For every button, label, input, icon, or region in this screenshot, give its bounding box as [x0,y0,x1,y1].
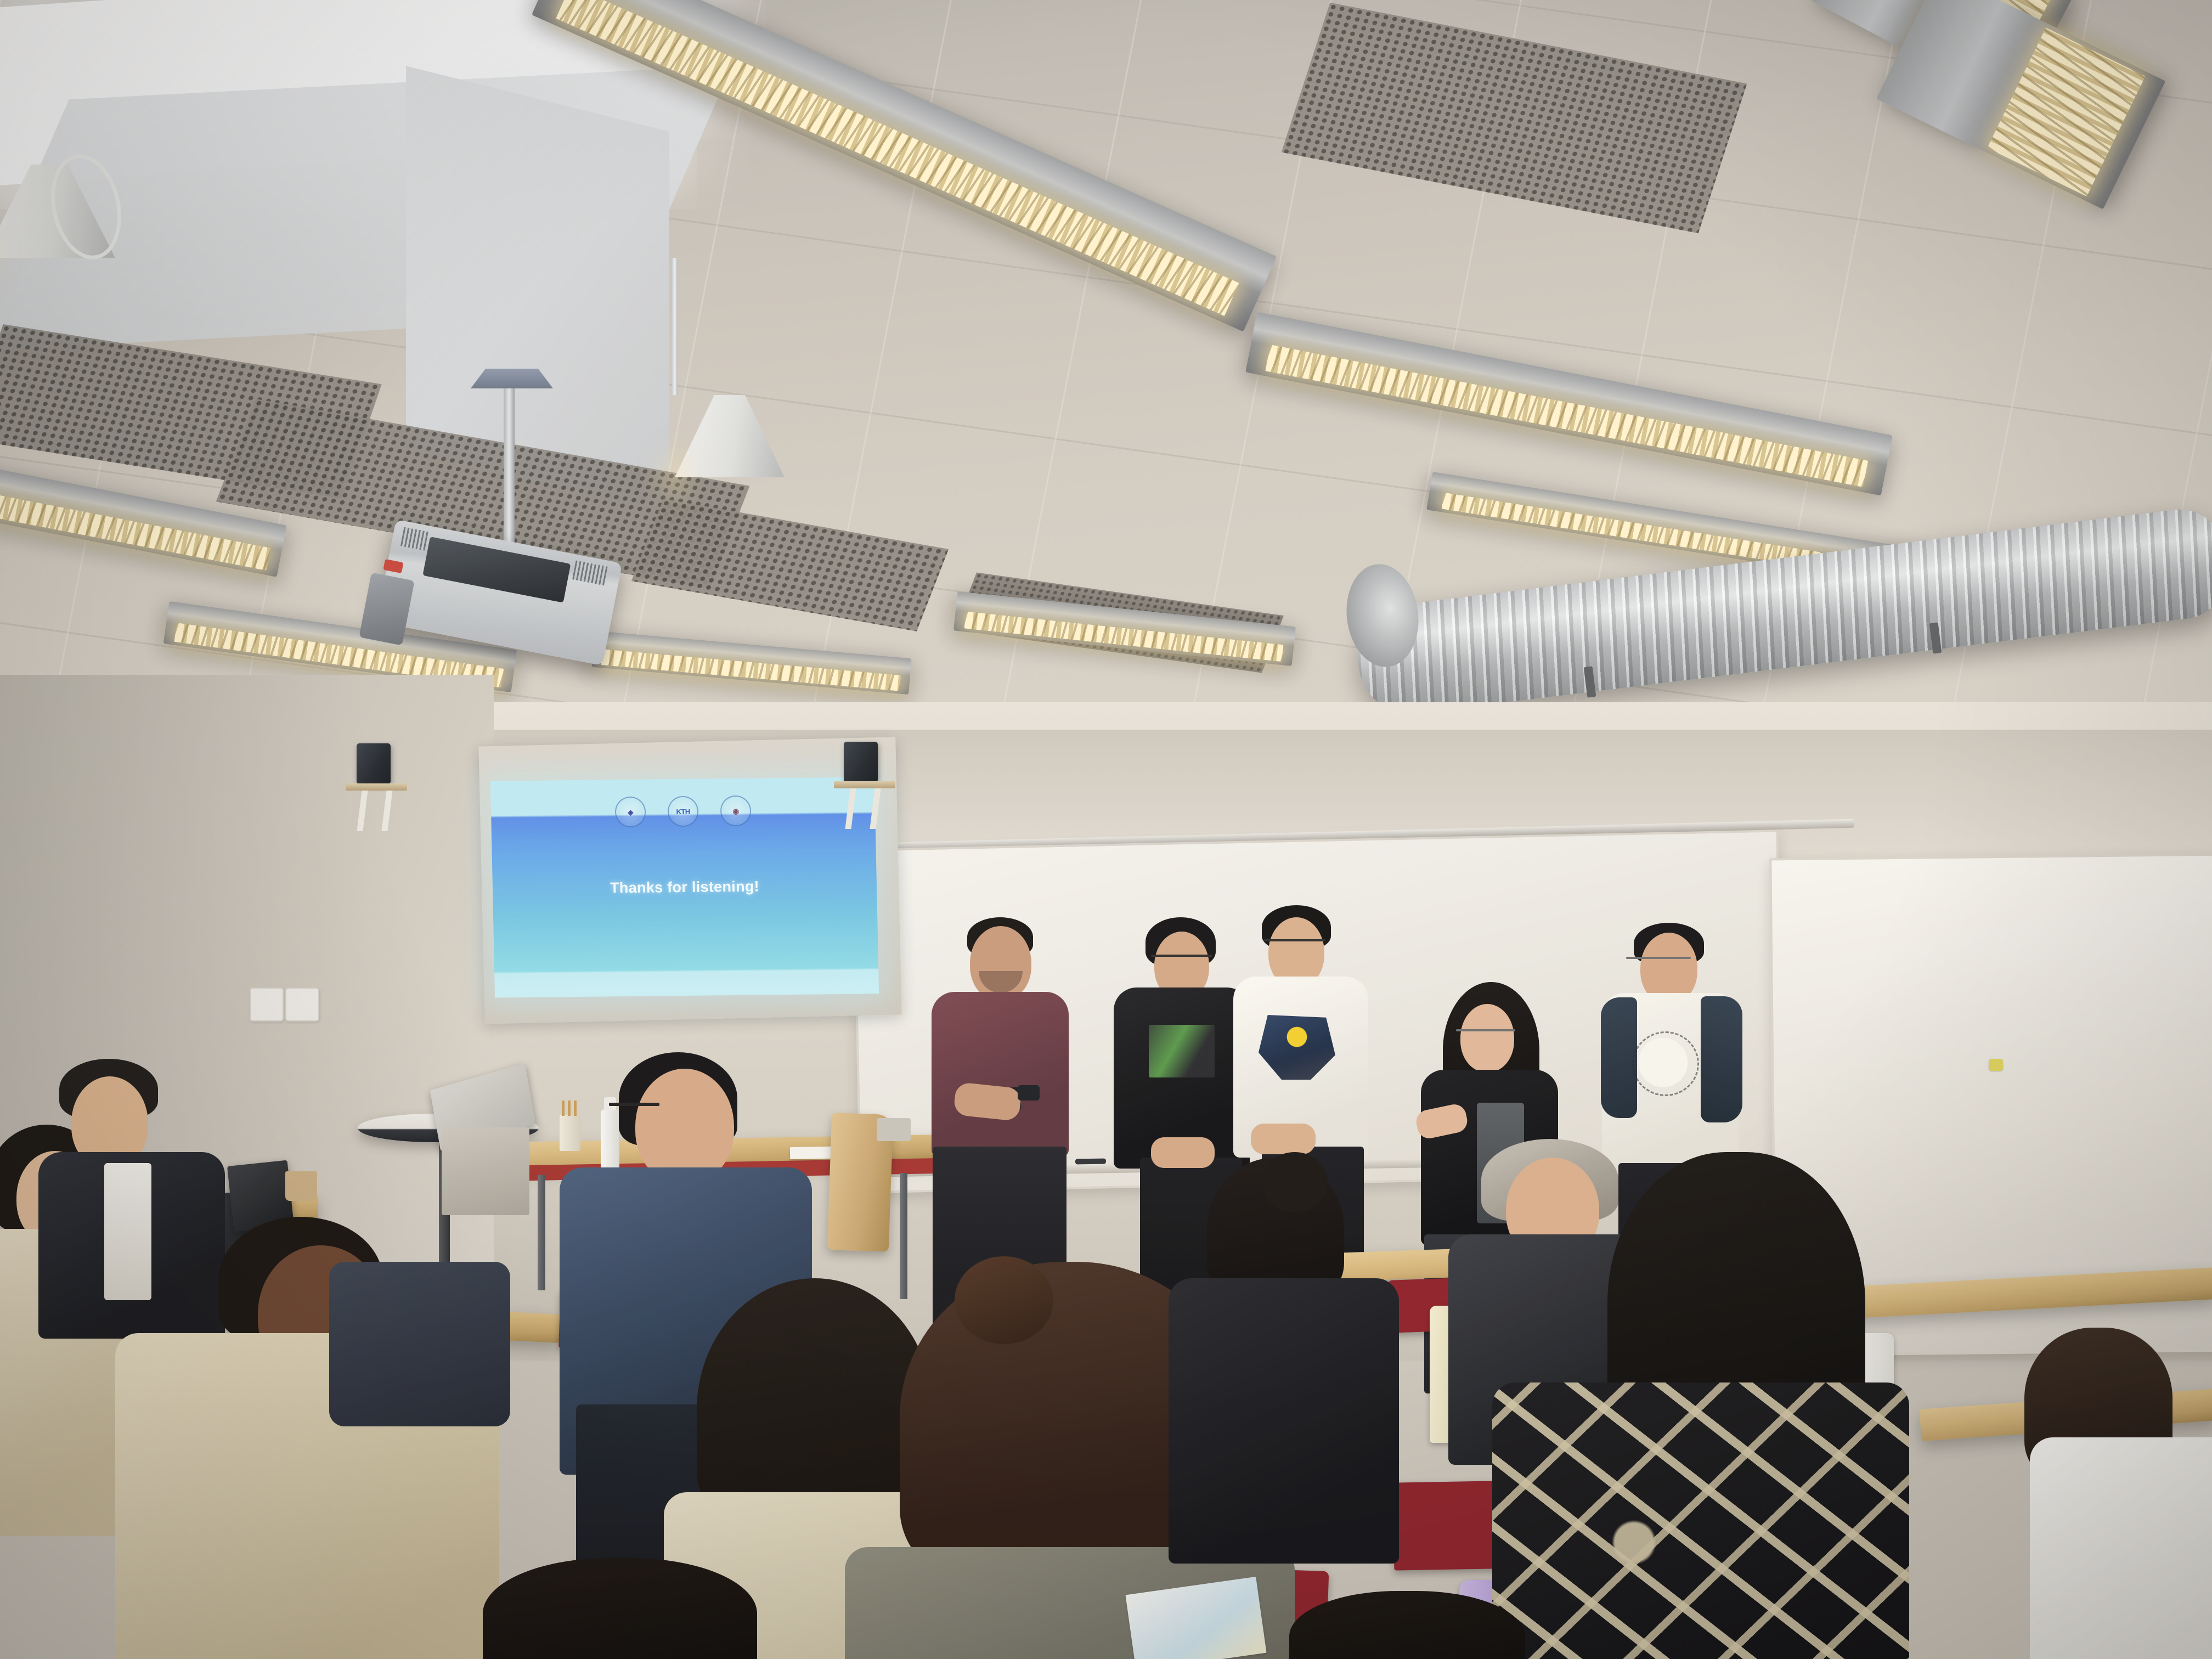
speaker-shelf [346,783,407,791]
storage-box [442,1127,529,1215]
head [1460,1004,1514,1072]
hair-bun [1262,1152,1328,1212]
wall-outlet-box [877,1118,911,1141]
slide-title: Thanks for listening! [493,877,877,898]
lecture-hall-photo: ◈ KTH ◉ Thanks for listening! [0,0,2212,1659]
projector-vent-grille [400,527,429,550]
light-switch[interactable] [285,988,319,1022]
hand-sanitizer-bottle[interactable] [601,1109,619,1175]
glasses-icon [1264,939,1325,941]
logo-glyph: ◉ [733,808,739,815]
desk-leg [538,1175,545,1290]
torso-white-shirt [2030,1437,2212,1659]
wristwatch [1018,1085,1040,1101]
projected-slide: ◈ KTH ◉ Thanks for listening! [490,777,879,997]
paper-cup[interactable] [285,1171,317,1201]
clasped-hands [1151,1137,1215,1168]
torso-patterned-top [1492,1383,1909,1659]
glasses-icon [1456,1029,1515,1031]
hair [483,1558,757,1659]
hair-bun [955,1256,1053,1344]
head [635,1069,734,1184]
pen-cup[interactable] [560,1115,580,1151]
torso-black-blazer [1169,1278,1399,1564]
projector-mount-pole [504,379,515,543]
glasses-icon [1151,955,1212,957]
partner-university-logo-right-icon: ◉ [720,795,752,827]
hoodie-graphic-print [1149,1025,1215,1077]
torso-maroon-tshirt [932,992,1069,1156]
speaker-shelf [834,781,895,788]
slide-logo-row: ◈ KTH ◉ [490,790,875,833]
coat-on-chair [329,1262,510,1426]
projector-vent-grille [572,561,607,585]
logo-glyph: ◈ [628,809,633,816]
snoopy-graphic-print [1632,1031,1699,1096]
whiteboard-marker[interactable] [1075,1159,1106,1165]
logo-glyph: KTH [676,808,690,815]
glasses-icon [1626,957,1691,959]
light-switch[interactable] [250,988,284,1022]
clasped-hands [1251,1124,1316,1154]
pendant-rod [672,258,678,395]
kth-logo-icon: KTH [668,796,699,827]
partner-university-logo-left-icon: ◈ [615,797,646,828]
wall-speaker [357,743,391,784]
desk-leg [900,1173,907,1299]
ceiling [0,0,2212,790]
white-shirt [104,1163,151,1300]
wall-speaker [844,742,878,782]
whiteboard-yellow-sticker [1989,1059,2003,1071]
raglan-sleeve-left [1601,997,1637,1118]
glasses-icon [609,1103,659,1106]
raglan-sleeve-right [1701,996,1742,1122]
